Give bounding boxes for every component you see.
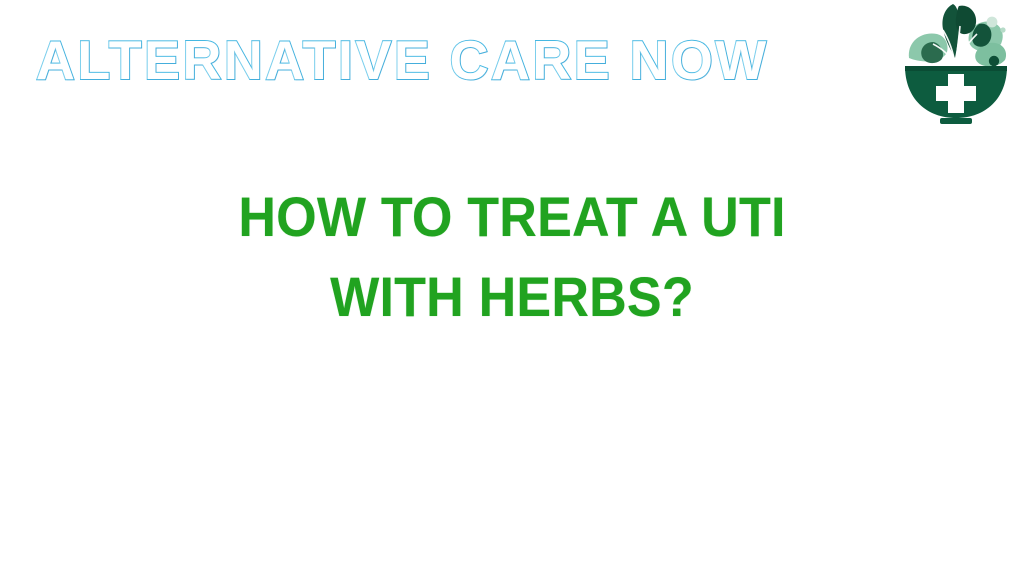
logo-mortar-bowl: [905, 66, 1007, 118]
brand-title: ALTERNATIVE CARE NOW: [36, 27, 769, 93]
brand-logo: [893, 0, 1019, 126]
slide-canvas: ALTERNATIVE CARE NOW: [0, 0, 1024, 576]
headline-line-2: WITH HERBS?: [36, 258, 988, 336]
logo-bowl-base: [940, 118, 972, 124]
headline-line-1: HOW TO TREAT A UTI: [36, 176, 988, 258]
headline-block: HOW TO TREAT A UTI WITH HERBS?: [0, 176, 1024, 336]
